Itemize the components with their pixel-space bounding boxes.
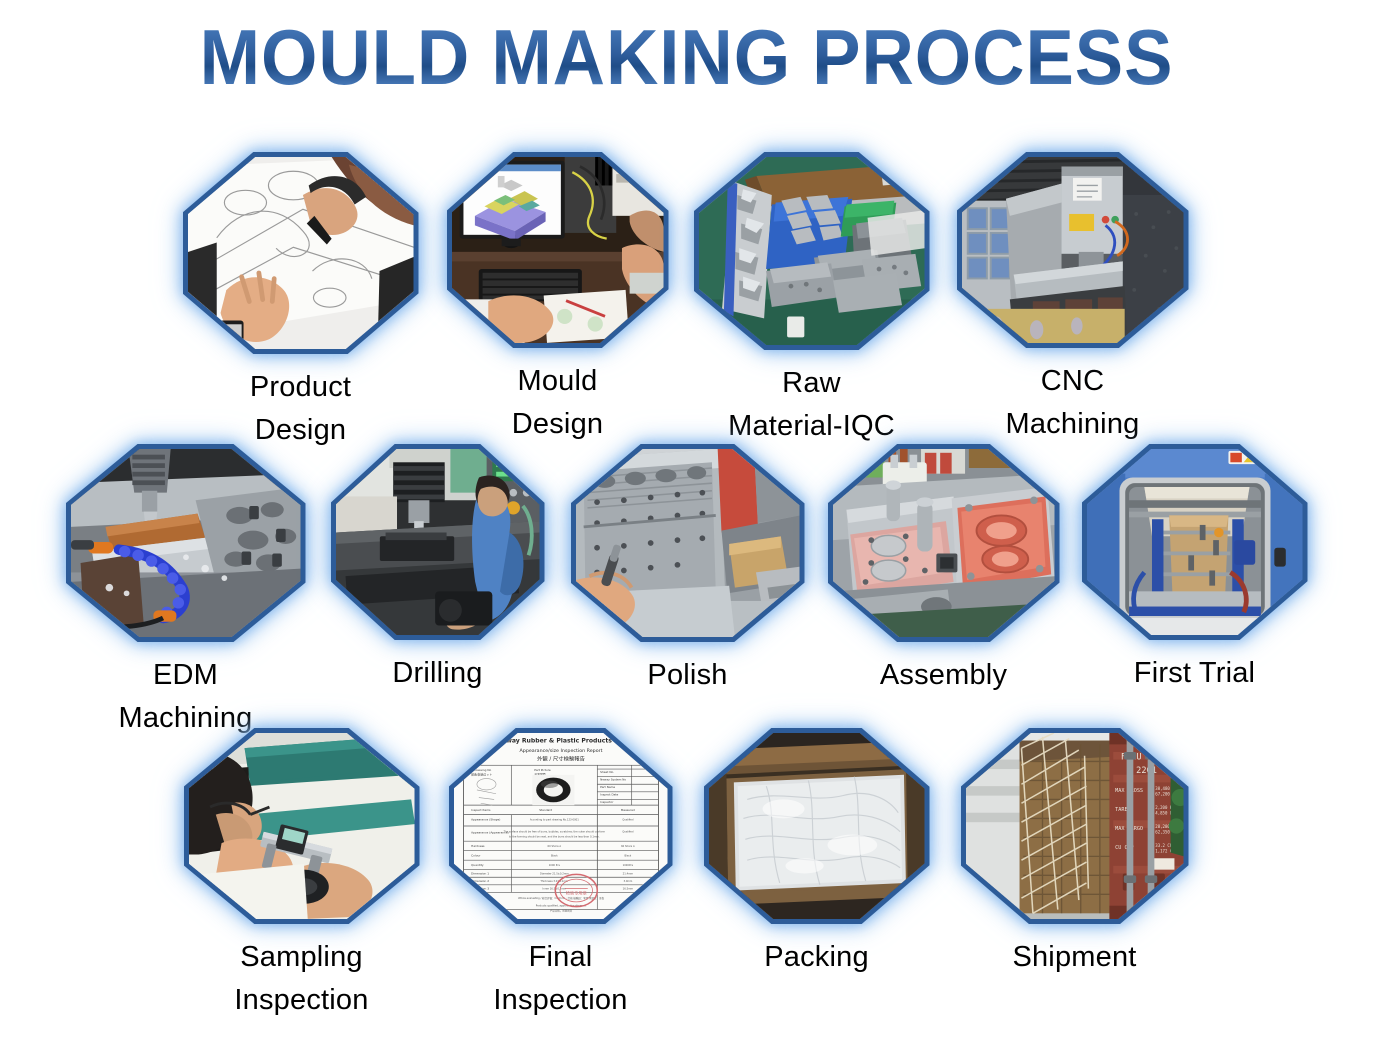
page-title-reflection-text: MOULD MAKING PROCESS bbox=[200, 96, 1174, 98]
svg-text:Quantity: Quantity bbox=[471, 863, 484, 867]
photo-cnc-milling-machine bbox=[962, 157, 1184, 343]
page-title-reflection: MOULD MAKING PROCESS bbox=[163, 96, 1210, 156]
svg-text:Qualified: Qualified bbox=[622, 830, 634, 834]
svg-text:Diameter 21.5±0.2mm: Diameter 21.5±0.2mm bbox=[539, 871, 568, 875]
step-label: Product Design bbox=[250, 366, 351, 452]
step-label: Polish bbox=[647, 654, 727, 697]
svg-text:Standard: Standard bbox=[539, 808, 552, 812]
step-edm-machining[interactable]: EDM Machining bbox=[62, 444, 310, 740]
svg-text:3.0mm: 3.0mm bbox=[623, 879, 632, 883]
process-row-3: Sampling Inspection Neway Rubber & Plast… bbox=[0, 728, 1373, 1022]
photo-wrapped-mould-in-wooden-crate bbox=[709, 733, 925, 919]
step-raw-material-iqc[interactable]: Raw Material-IQC bbox=[690, 152, 934, 452]
step-label: Packing bbox=[764, 936, 869, 979]
step-product-design[interactable]: Product Design bbox=[176, 152, 426, 452]
octagon-frame bbox=[184, 728, 420, 924]
svg-text:Appearance (Shape): Appearance (Shape) bbox=[471, 817, 500, 821]
octagon-frame bbox=[331, 444, 545, 640]
step-first-trial[interactable]: First Trial bbox=[1078, 444, 1312, 740]
svg-text:1000Pcs: 1000Pcs bbox=[622, 863, 633, 867]
svg-text:21.4mm: 21.4mm bbox=[622, 871, 633, 875]
page-title: MOULD MAKING PROCESS bbox=[200, 18, 1174, 96]
octagon-border bbox=[66, 444, 306, 642]
octagon-frame bbox=[694, 152, 930, 350]
step-shipment[interactable]: FCIU 415049 9 22G1 MAX GROSS30,480 KG67,… bbox=[953, 728, 1197, 1022]
svg-text:Colour: Colour bbox=[471, 853, 481, 857]
octagon-frame: Neway Rubber & Plastic Products Co. Appe… bbox=[449, 728, 673, 924]
svg-text:Inspect Date: Inspect Date bbox=[600, 793, 618, 797]
octagon-frame bbox=[828, 444, 1060, 642]
svg-text:60 Shore A: 60 Shore A bbox=[547, 844, 561, 848]
page-title-block: MOULD MAKING PROCESS MOULD MAKING PROCES… bbox=[0, 18, 1373, 160]
svg-text:Dimension 3: Dimension 3 bbox=[471, 887, 489, 891]
svg-text:Dimension 2: Dimension 2 bbox=[471, 879, 489, 883]
step-label: Drilling bbox=[392, 652, 482, 695]
step-label: CNC Machining bbox=[1006, 360, 1140, 446]
octagon-border bbox=[828, 444, 1060, 642]
svg-text:Part Picture: Part Picture bbox=[534, 768, 551, 772]
infographic-canvas: MOULD MAKING PROCESS MOULD MAKING PROCES… bbox=[0, 0, 1373, 1042]
svg-text:Qualified: Qualified bbox=[622, 817, 634, 821]
octagon-frame bbox=[957, 152, 1189, 348]
photo-steel-blocks-incoming-inspection bbox=[699, 157, 925, 345]
svg-text:to the forming should be neat,: to the forming should be neat, and the b… bbox=[509, 834, 600, 838]
step-label: Assembly bbox=[880, 654, 1007, 697]
photo-hand-sketching-product-drawing bbox=[188, 157, 414, 349]
svg-text:The surface should be free of: The surface should be free of burrs, bub… bbox=[503, 830, 605, 834]
photo-loaded-shipping-container: FCIU 415049 9 22G1 MAX GROSS30,480 KG67,… bbox=[966, 733, 1184, 919]
octagon-border bbox=[447, 152, 669, 348]
svg-text:Appearance/size Inspection Rep: Appearance/size Inspection Report bbox=[519, 748, 602, 754]
svg-text:According to part drawing No.1: According to part drawing No.123-0001 bbox=[529, 817, 578, 821]
svg-text:Hardness: Hardness bbox=[471, 844, 485, 848]
reflection-fade-mask bbox=[163, 96, 1210, 156]
svg-text:Black: Black bbox=[624, 853, 631, 857]
svg-text:1000 Pcs: 1000 Pcs bbox=[548, 863, 560, 867]
octagon-border bbox=[571, 444, 805, 642]
octagon-border bbox=[331, 444, 545, 640]
step-polish[interactable]: Polish bbox=[566, 444, 810, 740]
octagon-frame bbox=[1082, 444, 1308, 640]
step-cnc-machining[interactable]: CNC Machining bbox=[948, 152, 1198, 452]
photo-injection-moulding-machine-trial bbox=[1087, 449, 1303, 635]
step-sampling-inspection[interactable]: Sampling Inspection bbox=[177, 728, 427, 1022]
octagon-frame: FCIU 415049 9 22G1 MAX GROSS30,480 KG67,… bbox=[961, 728, 1189, 924]
photo-mould-halves-on-assembly-bench bbox=[833, 449, 1055, 637]
process-row-2: EDM Machining bbox=[0, 444, 1373, 740]
svg-text:产品合格，同意出货: 产品合格，同意出货 bbox=[549, 908, 572, 912]
photo-inspector-measuring-with-caliper bbox=[189, 733, 415, 919]
photo-edm-electrode-sinking-machine bbox=[71, 449, 301, 637]
step-label: Shipment bbox=[1012, 936, 1136, 979]
svg-text:Inspect Items: Inspect Items bbox=[471, 808, 491, 812]
svg-text:Measured: Measured bbox=[620, 808, 634, 812]
octagon-border bbox=[183, 152, 419, 354]
step-label: EDM Machining bbox=[119, 654, 253, 740]
step-packing[interactable]: Packing bbox=[695, 728, 939, 1022]
octagon-frame bbox=[66, 444, 306, 642]
step-label: Final Inspection bbox=[493, 936, 627, 1022]
step-assembly[interactable]: Assembly bbox=[822, 444, 1066, 740]
svg-text:16.5mm: 16.5mm bbox=[622, 887, 633, 891]
svg-text:Neway Rubber & Plastic Produc: Neway Rubber & Plastic Products Co. bbox=[496, 738, 624, 745]
photo-operator-at-drilling-machine bbox=[336, 449, 540, 635]
octagon-border: Neway Rubber & Plastic Products Co. Appe… bbox=[449, 728, 673, 924]
step-drilling[interactable]: Drilling bbox=[322, 444, 554, 740]
svg-text:Black: Black bbox=[550, 853, 557, 857]
step-label: First Trial bbox=[1134, 652, 1255, 695]
svg-text:Sheet No.: Sheet No. bbox=[600, 770, 614, 774]
step-mould-design[interactable]: Mould Design bbox=[440, 152, 676, 452]
step-label: Mould Design bbox=[512, 360, 603, 446]
process-row-1: Product Design bbox=[0, 152, 1373, 452]
svg-text:Dimension 1: Dimension 1 bbox=[471, 871, 489, 875]
photo-inspection-report-document: Neway Rubber & Plastic Products Co. Appe… bbox=[454, 733, 668, 919]
svg-text:60 Shore A: 60 Shore A bbox=[621, 844, 635, 848]
octagon-frame bbox=[704, 728, 930, 924]
svg-text:TARE: TARE bbox=[1115, 807, 1127, 813]
octagon-border bbox=[704, 728, 930, 924]
octagon-frame bbox=[183, 152, 419, 354]
step-label: Raw Material-IQC bbox=[728, 362, 895, 448]
svg-text:Neway System No: Neway System No bbox=[600, 777, 626, 781]
photo-cad-mould-design-on-monitor bbox=[452, 157, 664, 343]
svg-text:Whole evaluating / 総合評価：Confor: Whole evaluating / 総合評価：Conform／合格 検験員：李… bbox=[518, 896, 604, 900]
svg-text:检验专用章: 检验专用章 bbox=[565, 889, 586, 895]
octagon-border bbox=[957, 152, 1189, 348]
step-final-inspection[interactable]: Neway Rubber & Plastic Products Co. Appe… bbox=[441, 728, 681, 1022]
svg-text:製造/製造ロット: 製造/製造ロット bbox=[471, 773, 492, 777]
octagon-border bbox=[1082, 444, 1308, 640]
step-label: Sampling Inspection bbox=[234, 936, 368, 1022]
octagon-border: FCIU 415049 9 22G1 MAX GROSS30,480 KG67,… bbox=[961, 728, 1189, 924]
octagon-border bbox=[184, 728, 420, 924]
svg-text:外観 / 尺寸検験報告: 外観 / 尺寸検験報告 bbox=[537, 755, 586, 763]
svg-text:Part Name: Part Name bbox=[600, 785, 615, 789]
octagon-frame bbox=[447, 152, 669, 348]
photo-hand-polishing-mould-plate bbox=[576, 449, 800, 637]
octagon-frame bbox=[571, 444, 805, 642]
svg-text:Processing No: Processing No bbox=[471, 768, 491, 772]
svg-text:Inspector: Inspector bbox=[600, 800, 614, 804]
octagon-border bbox=[694, 152, 930, 350]
